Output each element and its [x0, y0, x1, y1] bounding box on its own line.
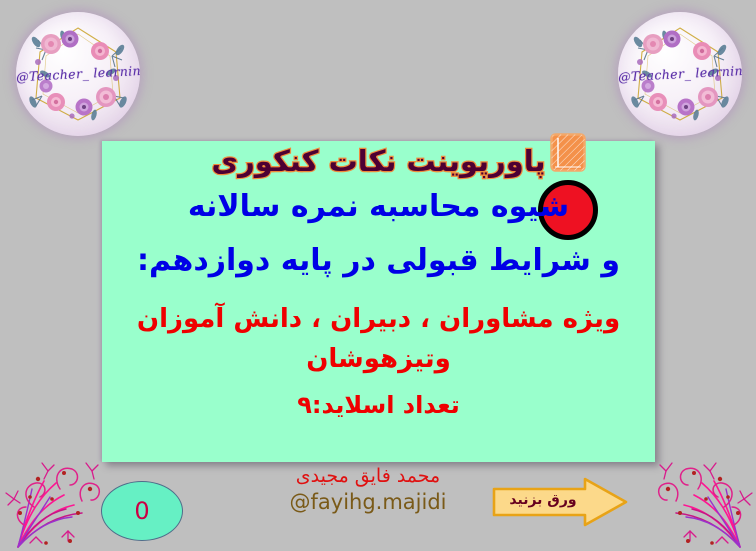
slide-count-label: تعداد اسلاید:۹ [102, 391, 655, 419]
slide-counter-badge: 0 [101, 481, 183, 541]
slide-stage: @Teacher_ learning [0, 0, 756, 550]
next-slide-label: ورق بزنید [502, 492, 584, 508]
floral-badge-right: @Teacher_ learning [618, 12, 742, 136]
book-icon [549, 132, 587, 176]
slide-audience-line-1: ویژه مشاوران ، دبیران ، دانش آموزان [102, 304, 655, 334]
author-handle: @fayihg.majidi [258, 489, 478, 516]
next-slide-button[interactable]: ورق بزنید [492, 477, 628, 527]
author-name: محمد فایق مجیدی [258, 465, 478, 489]
slide-subtitle-line-2: و شرایط قبولی در پایه دوازدهم: [102, 243, 655, 278]
slide-subtitle-line-1: شیوه محاسبه نمره سالانه [102, 189, 655, 224]
floral-badge-left: @Teacher_ learning [16, 12, 140, 136]
author-block: محمد فایق مجیدی @fayihg.majidi [258, 465, 478, 516]
firework-burst-icon-left [2, 455, 106, 551]
slide-audience-line-2: وتیزهوشان [102, 344, 655, 374]
firework-burst-icon-right [652, 455, 756, 551]
slide-content-panel: پاورپوینت نکات کنکوری شیوه محاسبه نمره س… [102, 141, 655, 462]
